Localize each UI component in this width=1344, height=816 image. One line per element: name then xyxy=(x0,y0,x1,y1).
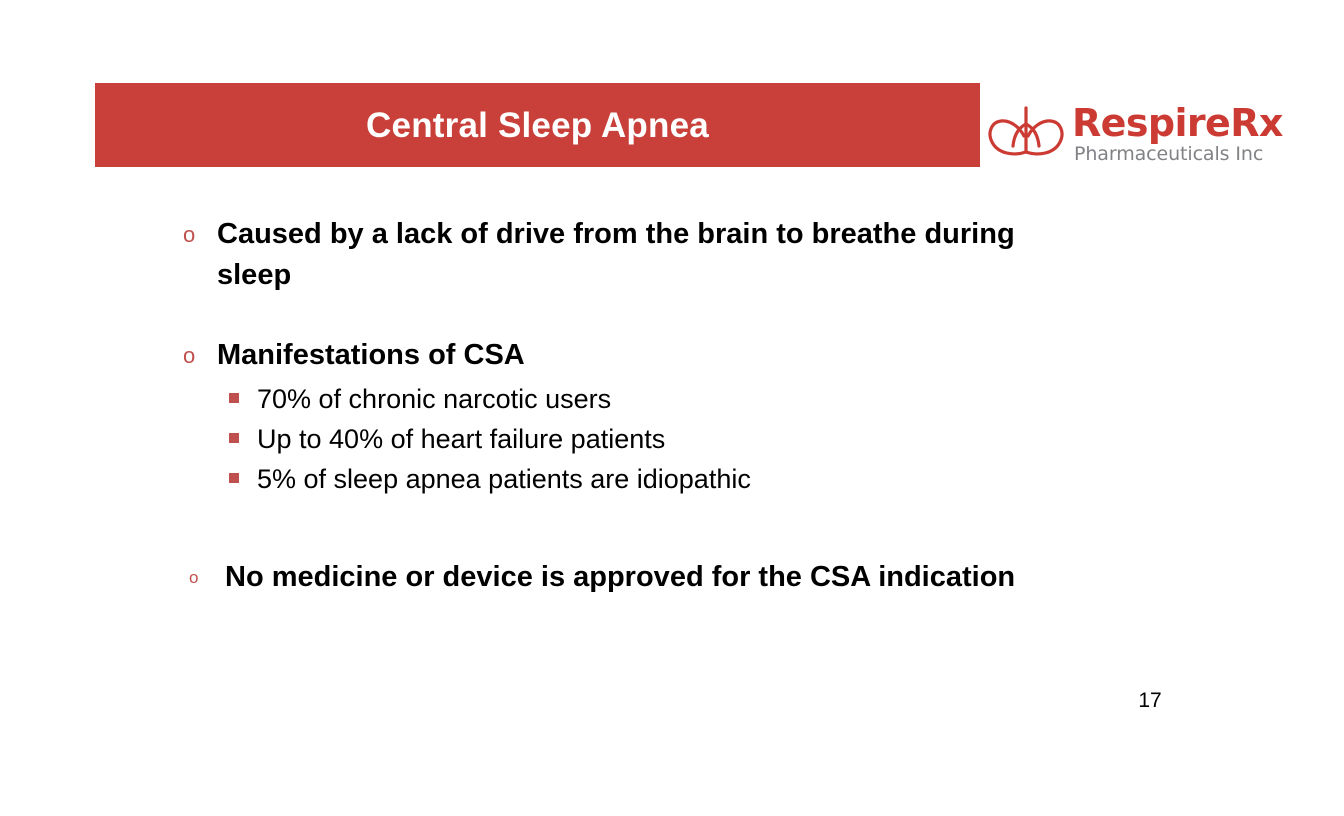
sub-bullet-text: 70% of chronic narcotic users xyxy=(257,379,611,419)
page-number: 17 xyxy=(1130,688,1170,714)
circle-bullet-icon: o xyxy=(183,214,217,255)
sub-bullet-item: 70% of chronic narcotic users xyxy=(229,379,611,419)
square-bullet-icon xyxy=(229,433,239,443)
bullet-text: Manifestations of CSA xyxy=(217,335,525,376)
sub-bullet-item: 5% of sleep apnea patients are idiopathi… xyxy=(229,459,751,499)
bullet-item: o No medicine or device is approved for … xyxy=(189,557,1089,598)
square-bullet-icon xyxy=(229,393,239,403)
bullet-item: o Manifestations of CSA xyxy=(183,335,1083,376)
bullet-text: No medicine or device is approved for th… xyxy=(225,557,1015,598)
circle-bullet-icon: o xyxy=(189,557,225,598)
slide-canvas: Central Sleep Apnea RespireRx Ph xyxy=(0,0,1344,816)
bullet-text: Caused by a lack of drive from the brain… xyxy=(217,214,1083,296)
bullet-item: o Caused by a lack of drive from the bra… xyxy=(183,214,1083,296)
sub-bullet-text: Up to 40% of heart failure patients xyxy=(257,419,665,459)
square-bullet-icon xyxy=(229,473,239,483)
circle-bullet-icon: o xyxy=(183,335,217,376)
sub-bullet-item: Up to 40% of heart failure patients xyxy=(229,419,665,459)
sub-bullet-text: 5% of sleep apnea patients are idiopathi… xyxy=(257,459,751,499)
